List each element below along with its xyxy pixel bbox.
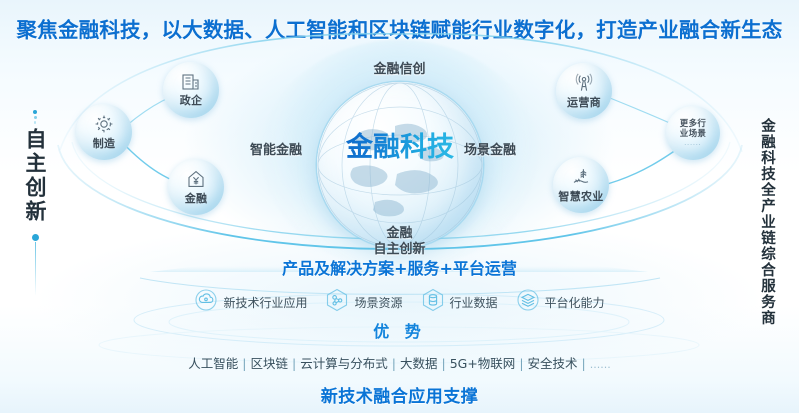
tech-separator: |: [519, 356, 523, 371]
advantage-item[interactable]: 新技术行业应用: [194, 289, 307, 315]
node-label-line1: 更多行: [680, 119, 706, 129]
node-yunying[interactable]: 运营商: [556, 63, 612, 119]
gear-icon: [94, 114, 114, 134]
bottom-title: 新技术融合应用支撑: [0, 382, 799, 407]
tech-separator: |: [441, 356, 445, 371]
node-label: 制造: [93, 135, 116, 151]
tech-item: 区块链: [250, 356, 288, 371]
node-label-line2: 业场景: [680, 129, 706, 139]
tech-item: 5G+物联网: [450, 356, 516, 371]
tech-items-row: 人工智能|区块链|云计算与分布式|大数据|5G+物联网|安全技术|......: [0, 353, 799, 372]
tech-separator: |: [292, 356, 296, 371]
globe-top-label: 金融信创: [0, 58, 799, 77]
layers-icon: [516, 288, 540, 316]
advantage-item[interactable]: 平台化能力: [516, 288, 605, 316]
globe-left-label: 智能金融: [250, 139, 302, 158]
antenna-tower-icon: [574, 73, 594, 93]
money-house-icon: [186, 169, 206, 189]
tech-separator: |: [392, 356, 396, 371]
node-zhizao[interactable]: 制造: [76, 104, 132, 160]
tech-ellipsis: ......: [590, 358, 611, 371]
globe-center-label: 金融科技: [317, 125, 483, 164]
node-label: 运营商: [567, 94, 601, 110]
node-label: 智慧农业: [558, 188, 603, 204]
tech-item: 云计算与分布式: [300, 356, 388, 371]
left-vertical-text: 自主创新: [20, 128, 50, 224]
cloud-icon: [194, 289, 218, 315]
tech-separator: |: [582, 356, 586, 371]
advantages-row: 新技术行业应用 场景资源 行业数据: [0, 288, 799, 316]
node-smart-agriculture[interactable]: 智慧农业: [553, 157, 609, 213]
node-more-scenarios[interactable]: 更多行 业场景 ......: [666, 106, 720, 160]
advantage-item[interactable]: 行业数据: [421, 288, 498, 316]
node-label: 金融: [185, 190, 208, 206]
tech-item: 安全技术: [528, 356, 578, 371]
advantage-item[interactable]: 场景资源: [325, 288, 402, 316]
tech-item: 人工智能: [188, 356, 238, 371]
node-jinrong[interactable]: 金融: [168, 159, 224, 215]
agriculture-icon: [571, 167, 591, 187]
infographic-canvas: 聚焦金融科技，以大数据、人工智能和区块链赋能行业数字化，打造产业融合新生态: [0, 0, 799, 413]
molecule-icon: [325, 288, 349, 316]
left-dots-top: [31, 108, 39, 126]
advantage-label: 新技术行业应用: [223, 294, 307, 311]
globe-right-label: 场景金融: [464, 139, 516, 158]
advantage-label: 场景资源: [354, 294, 402, 311]
advantages-title: 优 势: [0, 318, 799, 342]
advantage-label: 平台化能力: [545, 294, 605, 311]
products-line: 产品及解决方案+服务+平台运营: [0, 255, 799, 279]
advantage-label: 行业数据: [450, 294, 498, 311]
tech-separator: |: [242, 356, 246, 371]
database-icon: [421, 288, 445, 316]
node-label: 政企: [180, 92, 203, 108]
node-zhengqi[interactable]: 政企: [163, 62, 219, 118]
node-ellipsis: ......: [684, 140, 701, 147]
tech-item: 大数据: [400, 356, 438, 371]
building-icon: [181, 73, 201, 91]
